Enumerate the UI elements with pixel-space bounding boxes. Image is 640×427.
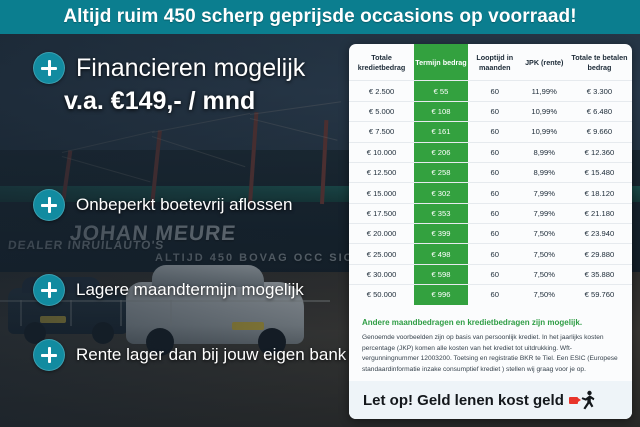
table-cell: € 9.660 <box>567 122 632 142</box>
table-row: € 17.500€ 353607,99%€ 21.180 <box>349 203 632 223</box>
table-cell: 8,99% <box>522 142 567 162</box>
table-cell: 60 <box>468 244 522 264</box>
table-row: € 7.500€ 1616010,99%€ 9.660 <box>349 122 632 142</box>
table-cell: 60 <box>468 264 522 284</box>
table-cell: 7,99% <box>522 203 567 223</box>
table-cell: € 258 <box>414 162 468 182</box>
afm-running-man-icon <box>569 390 595 410</box>
table-cell: € 6.480 <box>567 101 632 121</box>
table-cell: 60 <box>468 183 522 203</box>
table-cell: € 353 <box>414 203 468 223</box>
table-cell: € 15.000 <box>349 183 414 203</box>
table-row: € 25.000€ 498607,50%€ 29.880 <box>349 244 632 264</box>
benefit-label: Financieren mogelijk <box>76 54 305 83</box>
table-header-row: Totale kredietbedrag Termijn bedrag Loop… <box>349 44 632 81</box>
table-cell: € 108 <box>414 101 468 121</box>
column-header-term-amount: Termijn bedrag <box>414 44 468 81</box>
benefit-item-penalty-free-repayment: Onbeperkt boetevrij aflossen <box>33 189 292 221</box>
table-cell: 60 <box>468 162 522 182</box>
table-cell: 7,99% <box>522 183 567 203</box>
table-cell: € 7.500 <box>349 122 414 142</box>
plus-icon <box>33 339 65 371</box>
table-cell: 60 <box>468 122 522 142</box>
table-cell: € 23.940 <box>567 224 632 244</box>
table-cell: € 5.000 <box>349 101 414 121</box>
credit-warning-bar: Let op! Geld lenen kost geld <box>349 381 632 419</box>
table-cell: 8,99% <box>522 162 567 182</box>
table-cell: € 25.000 <box>349 244 414 264</box>
table-cell: € 59.760 <box>567 285 632 305</box>
table-cell: € 12.500 <box>349 162 414 182</box>
table-row: € 15.000€ 302607,99%€ 18.120 <box>349 183 632 203</box>
table-cell: 7,50% <box>522 285 567 305</box>
benefit-item-lower-interest: Rente lager dan bij jouw eigen bank <box>33 339 346 371</box>
table-row: € 50.000€ 996607,50%€ 59.760 <box>349 285 632 305</box>
column-header-total-payable: Totale te betalen bedrag <box>567 44 632 81</box>
table-cell: € 498 <box>414 244 468 264</box>
table-row: € 20.000€ 399607,50%€ 23.940 <box>349 224 632 244</box>
benefit-label: Rente lager dan bij jouw eigen bank <box>76 345 346 365</box>
table-cell: € 302 <box>414 183 468 203</box>
running-man-glyph <box>579 390 595 410</box>
headline-second-line: v.a. €149,- / mnd <box>64 87 255 116</box>
table-row: € 30.000€ 598607,50%€ 35.880 <box>349 264 632 284</box>
credit-warning-text: Let op! Geld lenen kost geld <box>363 392 564 409</box>
top-banner: Altijd ruim 450 scherp geprijsde occasio… <box>0 0 640 34</box>
table-cell: 7,50% <box>522 264 567 284</box>
table-cell: € 50.000 <box>349 285 414 305</box>
promo-banner-image: JOHAN MEURE DEALER INRUILAUTO'S ALTIJD 4… <box>0 0 640 427</box>
table-cell: € 10.000 <box>349 142 414 162</box>
table-cell: € 20.000 <box>349 224 414 244</box>
disclaimer-block: Andere maandbedragen en kredietbedragen … <box>362 318 619 376</box>
benefit-item-lower-monthly-term: Lagere maandtermijn mogelijk <box>33 274 304 306</box>
plus-icon <box>33 274 65 306</box>
table-cell: 7,50% <box>522 244 567 264</box>
table-cell: € 18.120 <box>567 183 632 203</box>
column-header-total-credit: Totale kredietbedrag <box>349 44 414 81</box>
top-banner-text: Altijd ruim 450 scherp geprijsde occasio… <box>63 6 576 28</box>
benefit-label: Lagere maandtermijn mogelijk <box>76 280 304 300</box>
table-cell: 10,99% <box>522 122 567 142</box>
disclaimer-title: Andere maandbedragen en kredietbedragen … <box>362 318 619 328</box>
table-cell: € 35.880 <box>567 264 632 284</box>
plus-icon <box>33 52 65 84</box>
table-cell: 10,99% <box>522 101 567 121</box>
table-row: € 2.500€ 556011,99%€ 3.300 <box>349 81 632 101</box>
table-cell: € 206 <box>414 142 468 162</box>
table-cell: € 55 <box>414 81 468 101</box>
table-row: € 12.500€ 258608,99%€ 15.480 <box>349 162 632 182</box>
table-row: € 10.000€ 206608,99%€ 12.360 <box>349 142 632 162</box>
table-cell: € 996 <box>414 285 468 305</box>
table-cell: € 30.000 <box>349 264 414 284</box>
table-cell: 60 <box>468 142 522 162</box>
rates-table-body: € 2.500€ 556011,99%€ 3.300€ 5.000€ 10860… <box>349 81 632 305</box>
table-cell: 60 <box>468 203 522 223</box>
plus-icon <box>33 189 65 221</box>
benefit-label: Onbeperkt boetevrij aflossen <box>76 195 292 215</box>
table-cell: 7,50% <box>522 224 567 244</box>
table-row: € 5.000€ 1086010,99%€ 6.480 <box>349 101 632 121</box>
table-cell: € 2.500 <box>349 81 414 101</box>
loan-info-card: Totale kredietbedrag Termijn bedrag Loop… <box>349 44 632 419</box>
disclaimer-body: Genoemde voorbeelden zijn op basis van p… <box>362 333 619 376</box>
table-cell: € 3.300 <box>567 81 632 101</box>
benefit-item-financing: Financieren mogelijk <box>33 52 305 84</box>
table-cell: € 17.500 <box>349 203 414 223</box>
table-cell: € 12.360 <box>567 142 632 162</box>
table-cell: 60 <box>468 224 522 244</box>
loan-rates-table: Totale kredietbedrag Termijn bedrag Loop… <box>349 44 632 305</box>
afm-red-box <box>569 397 578 404</box>
column-header-duration: Looptijd in maanden <box>468 44 522 81</box>
table-cell: € 21.180 <box>567 203 632 223</box>
table-cell: 60 <box>468 81 522 101</box>
table-cell: 60 <box>468 101 522 121</box>
table-cell: € 161 <box>414 122 468 142</box>
table-cell: € 15.480 <box>567 162 632 182</box>
table-cell: € 598 <box>414 264 468 284</box>
benefits-list: Financieren mogelijk v.a. €149,- / mnd O… <box>0 34 345 427</box>
column-header-jpk: JPK (rente) <box>522 44 567 81</box>
table-cell: € 29.880 <box>567 244 632 264</box>
table-cell: 11,99% <box>522 81 567 101</box>
table-cell: 60 <box>468 285 522 305</box>
table-cell: € 399 <box>414 224 468 244</box>
